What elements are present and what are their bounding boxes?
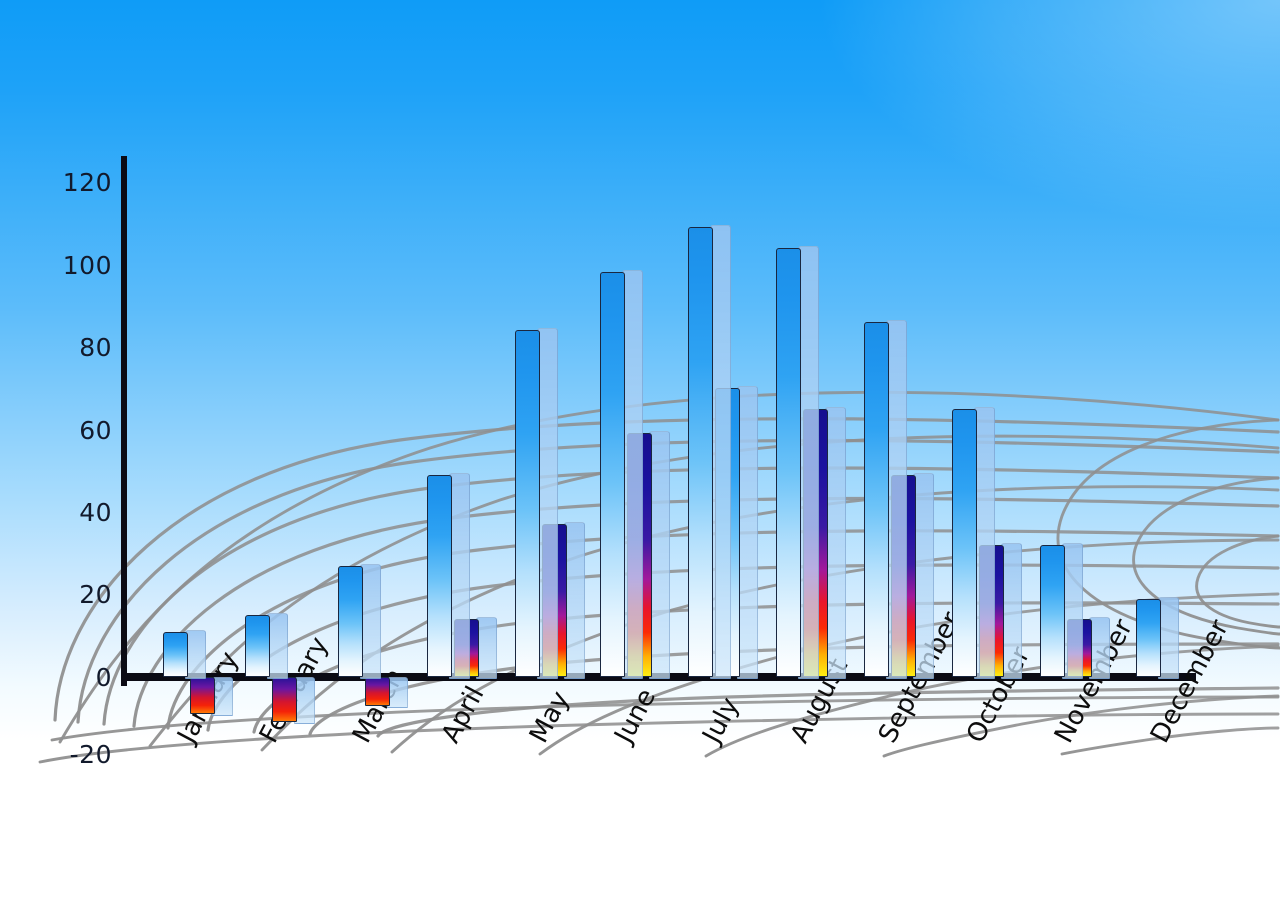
bar xyxy=(338,566,363,677)
y-tick-20: 20 xyxy=(79,580,112,609)
bar-side-face xyxy=(798,246,819,679)
bar-side-face xyxy=(449,473,470,679)
bar-side-face xyxy=(387,677,408,708)
bar-side-face xyxy=(1062,543,1083,679)
bar-side-face xyxy=(825,407,846,679)
bar xyxy=(1040,545,1065,677)
y-tick-40: 40 xyxy=(79,498,112,527)
bar xyxy=(776,248,801,677)
plot-area: 120 100 80 60 40 20 0 -20 JanuaryFebruar… xyxy=(0,0,1280,905)
bar-front-face xyxy=(245,615,270,677)
bar xyxy=(427,475,452,677)
bar xyxy=(190,677,215,714)
y-tick-neg20: -20 xyxy=(70,740,112,769)
x-label-april: April xyxy=(436,682,490,749)
bar-side-face xyxy=(564,522,585,679)
bar-front-face xyxy=(272,677,297,722)
bar-front-face xyxy=(515,330,540,677)
bar xyxy=(245,615,270,677)
bar xyxy=(864,322,889,677)
bar-side-face xyxy=(476,617,497,679)
y-tick-120: 120 xyxy=(63,168,112,197)
bar-side-face xyxy=(537,328,558,679)
bar-side-face xyxy=(212,677,233,716)
x-label-july: July xyxy=(697,693,745,748)
bar-side-face xyxy=(649,431,670,679)
bar-side-face xyxy=(737,386,758,679)
bar-front-face xyxy=(688,227,713,677)
bar-front-face xyxy=(776,248,801,677)
bar-side-face xyxy=(1089,617,1110,679)
bar-side-face xyxy=(913,473,934,679)
y-axis-line xyxy=(121,156,127,686)
bar-front-face xyxy=(190,677,215,714)
bar-front-face xyxy=(338,566,363,677)
y-tick-60: 60 xyxy=(79,416,112,445)
bar-front-face xyxy=(163,632,188,677)
bar xyxy=(688,227,713,677)
bar-side-face xyxy=(1001,543,1022,679)
x-label-june: June xyxy=(609,684,662,748)
bar-side-face xyxy=(622,270,643,679)
bar-side-face xyxy=(267,613,288,679)
bar-side-face xyxy=(974,407,995,679)
bar xyxy=(365,677,390,706)
bar-front-face xyxy=(427,475,452,677)
chart-canvas: 120 100 80 60 40 20 0 -20 JanuaryFebruar… xyxy=(0,0,1280,905)
x-label-may: May xyxy=(524,687,576,749)
bar-side-face xyxy=(294,677,315,724)
bar xyxy=(1136,599,1161,677)
bar-front-face xyxy=(1136,599,1161,677)
bar-front-face xyxy=(952,409,977,677)
bar-side-face xyxy=(360,564,381,679)
bar-front-face xyxy=(1040,545,1065,677)
y-tick-100: 100 xyxy=(63,251,112,280)
bar xyxy=(952,409,977,677)
bar-side-face xyxy=(185,630,206,679)
y-tick-80: 80 xyxy=(79,333,112,362)
bar xyxy=(163,632,188,677)
y-tick-0: 0 xyxy=(96,663,112,692)
bar xyxy=(272,677,297,722)
bar-side-face xyxy=(886,320,907,679)
bar xyxy=(600,272,625,677)
bar-front-face xyxy=(600,272,625,677)
bar-front-face xyxy=(864,322,889,677)
bar xyxy=(515,330,540,677)
bar-front-face xyxy=(365,677,390,706)
bar-side-face xyxy=(1158,597,1179,679)
bar-side-face xyxy=(710,225,731,679)
